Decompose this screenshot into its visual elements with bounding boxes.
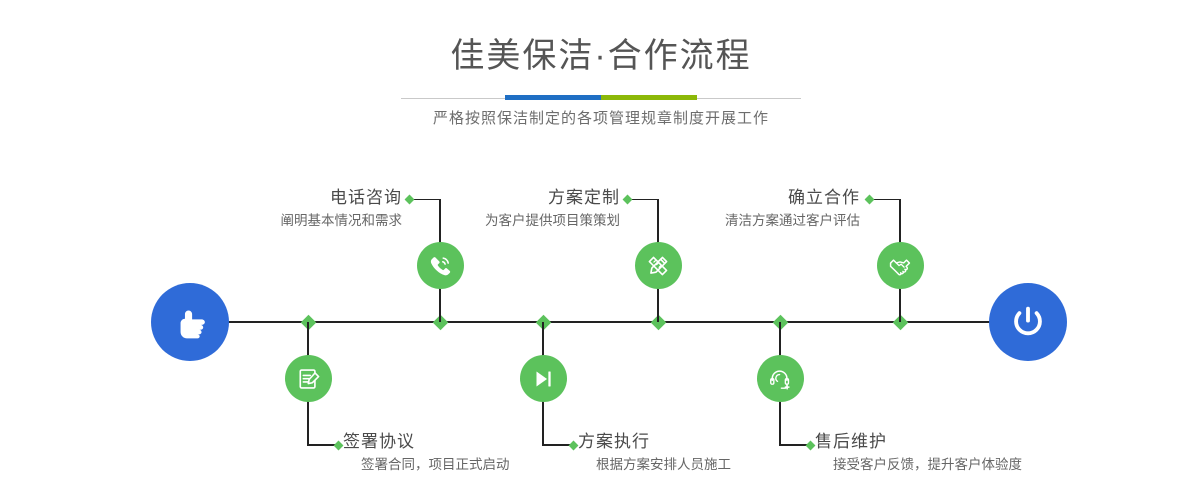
process-flow-infographic: 佳美保洁·合作流程 严格按照保洁制定的各项管理规章制度开展工作	[0, 0, 1202, 502]
step-desc-6: 接受客户反馈，提升客户体验度	[815, 454, 1105, 476]
step-icon-circle-4[interactable]	[520, 355, 567, 402]
step-icon-circle-5[interactable]	[877, 242, 924, 289]
pointing-hand-icon	[168, 300, 212, 344]
phone-call-icon	[427, 253, 453, 279]
timeline: 电话咨询 阐明基本情况和需求 签署协议 签署合同，项目正式启动	[0, 0, 1202, 502]
step-icon-circle-3[interactable]	[635, 242, 682, 289]
connector-horizontal-5	[873, 199, 900, 201]
step-label-4: 方案执行 根据方案安排人员施工	[578, 430, 838, 476]
step-desc-3: 为客户提供项目策策划	[352, 210, 620, 232]
step-icon-circle-1[interactable]	[417, 242, 464, 289]
customer-service-add-icon	[767, 366, 793, 392]
pencil-ruler-icon	[645, 253, 671, 279]
step-title-4: 方案执行	[578, 430, 838, 454]
step-title-5: 确立合作	[592, 186, 860, 210]
timeline-start-node[interactable]	[151, 283, 229, 361]
step-label-3: 方案定制 为客户提供项目策策划	[352, 186, 620, 232]
step-title-3: 方案定制	[352, 186, 620, 210]
step-label-2: 签署协议 签署合同，项目正式启动	[343, 430, 603, 476]
step-icon-circle-2[interactable]	[285, 355, 332, 402]
play-next-icon	[530, 366, 556, 392]
step-label-6: 售后维护 接受客户反馈，提升客户体验度	[815, 430, 1105, 476]
step-desc-2: 签署合同，项目正式启动	[343, 454, 603, 476]
step-desc-4: 根据方案安排人员施工	[578, 454, 838, 476]
connector-bullet-5	[865, 195, 875, 205]
step-title-2: 签署协议	[343, 430, 603, 454]
connector-bullet-2	[334, 440, 344, 450]
document-edit-icon	[295, 366, 321, 392]
step-label-5: 确立合作 清洁方案通过客户评估	[592, 186, 860, 232]
step-desc-5: 清洁方案通过客户评估	[592, 210, 860, 232]
step-icon-circle-6[interactable]	[757, 355, 804, 402]
timeline-end-node[interactable]	[989, 283, 1067, 361]
power-icon	[1006, 300, 1050, 344]
handshake-icon	[887, 253, 913, 279]
step-title-6: 售后维护	[815, 430, 1105, 454]
